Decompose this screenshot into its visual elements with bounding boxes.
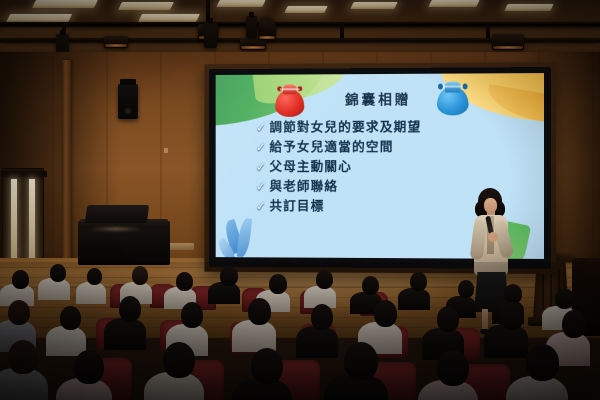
check-icon: ✓ <box>256 122 269 134</box>
check-icon: ✓ <box>256 181 269 193</box>
grand-piano <box>78 205 170 265</box>
list-item-label: 父母主動關心 <box>269 159 352 178</box>
stage-spotlight <box>258 16 276 40</box>
wall-pillar <box>62 60 71 288</box>
check-icon: ✓ <box>256 161 269 173</box>
ceiling-light-panel <box>284 6 327 13</box>
ceiling-light-panel <box>428 0 479 7</box>
ceiling-light-panel <box>32 0 98 8</box>
auditorium-photo: 錦囊相贈 ✓ 調節對女兒的要求及期望 ✓ 給予女兒適當的空間 ✓ 父母主動關心 … <box>0 0 600 400</box>
lighting-truss <box>0 22 600 27</box>
list-item-label: 調節對女兒的要求及期望 <box>269 119 421 138</box>
slide-title: 錦囊相贈 <box>216 89 544 110</box>
wall-speaker <box>118 84 138 119</box>
truss-drop-rod <box>340 22 344 38</box>
check-icon: ✓ <box>256 200 269 212</box>
wall-plate <box>164 148 168 153</box>
list-item: ✓ 父母主動關心 <box>256 159 526 178</box>
ceiling-light-panel <box>216 0 265 7</box>
list-item-label: 給予女兒適當的空間 <box>269 139 393 158</box>
hanging-speaker <box>204 22 217 48</box>
stage-spotlight <box>492 34 524 50</box>
door-header <box>1 171 47 177</box>
audience <box>0 262 600 400</box>
hanging-speaker <box>246 16 257 38</box>
list-item: ✓ 調節對女兒的要求及期望 <box>256 119 526 138</box>
list-item: ✓ 給予女兒適當的空間 <box>256 139 526 158</box>
ceiling-light-panel <box>504 4 553 11</box>
stage-spotlight <box>104 36 128 48</box>
blue-leaf-decoration <box>237 218 252 258</box>
ceiling-light-panel <box>118 2 174 10</box>
check-icon: ✓ <box>256 141 269 153</box>
list-item-label: 與老師聯絡 <box>269 179 338 198</box>
ceiling-light-panel <box>350 2 397 9</box>
ceiling-light-panel <box>138 14 200 22</box>
list-item-label: 共訂目標 <box>269 198 324 217</box>
presenter-hand <box>488 232 498 242</box>
truss-drop-rod <box>486 22 490 38</box>
